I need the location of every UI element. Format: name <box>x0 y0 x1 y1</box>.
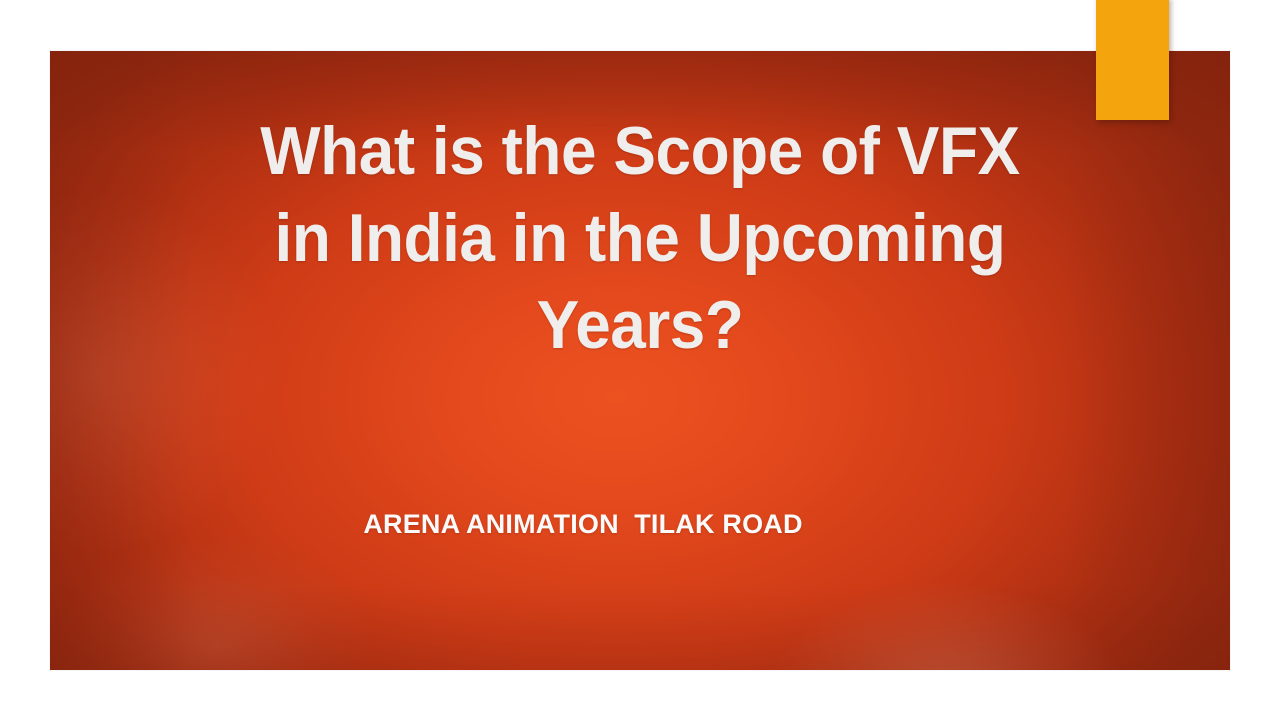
orange-accent-rectangle <box>1096 0 1169 120</box>
slide-title-line-1: What is the Scope of VFX <box>97 108 1184 195</box>
slide-subtitle-text: ARENA ANIMATION TILAK ROAD <box>363 509 802 539</box>
slide-title-line-2: in India in the Upcoming <box>97 195 1184 282</box>
slide-title-line-3: Years? <box>97 282 1184 369</box>
presentation-slide-canvas: What is the Scope of VFX in India in the… <box>0 0 1280 720</box>
slide-title: What is the Scope of VFX in India in the… <box>50 108 1230 369</box>
slide-subtitle: ARENA ANIMATION TILAK ROAD <box>50 506 1230 542</box>
